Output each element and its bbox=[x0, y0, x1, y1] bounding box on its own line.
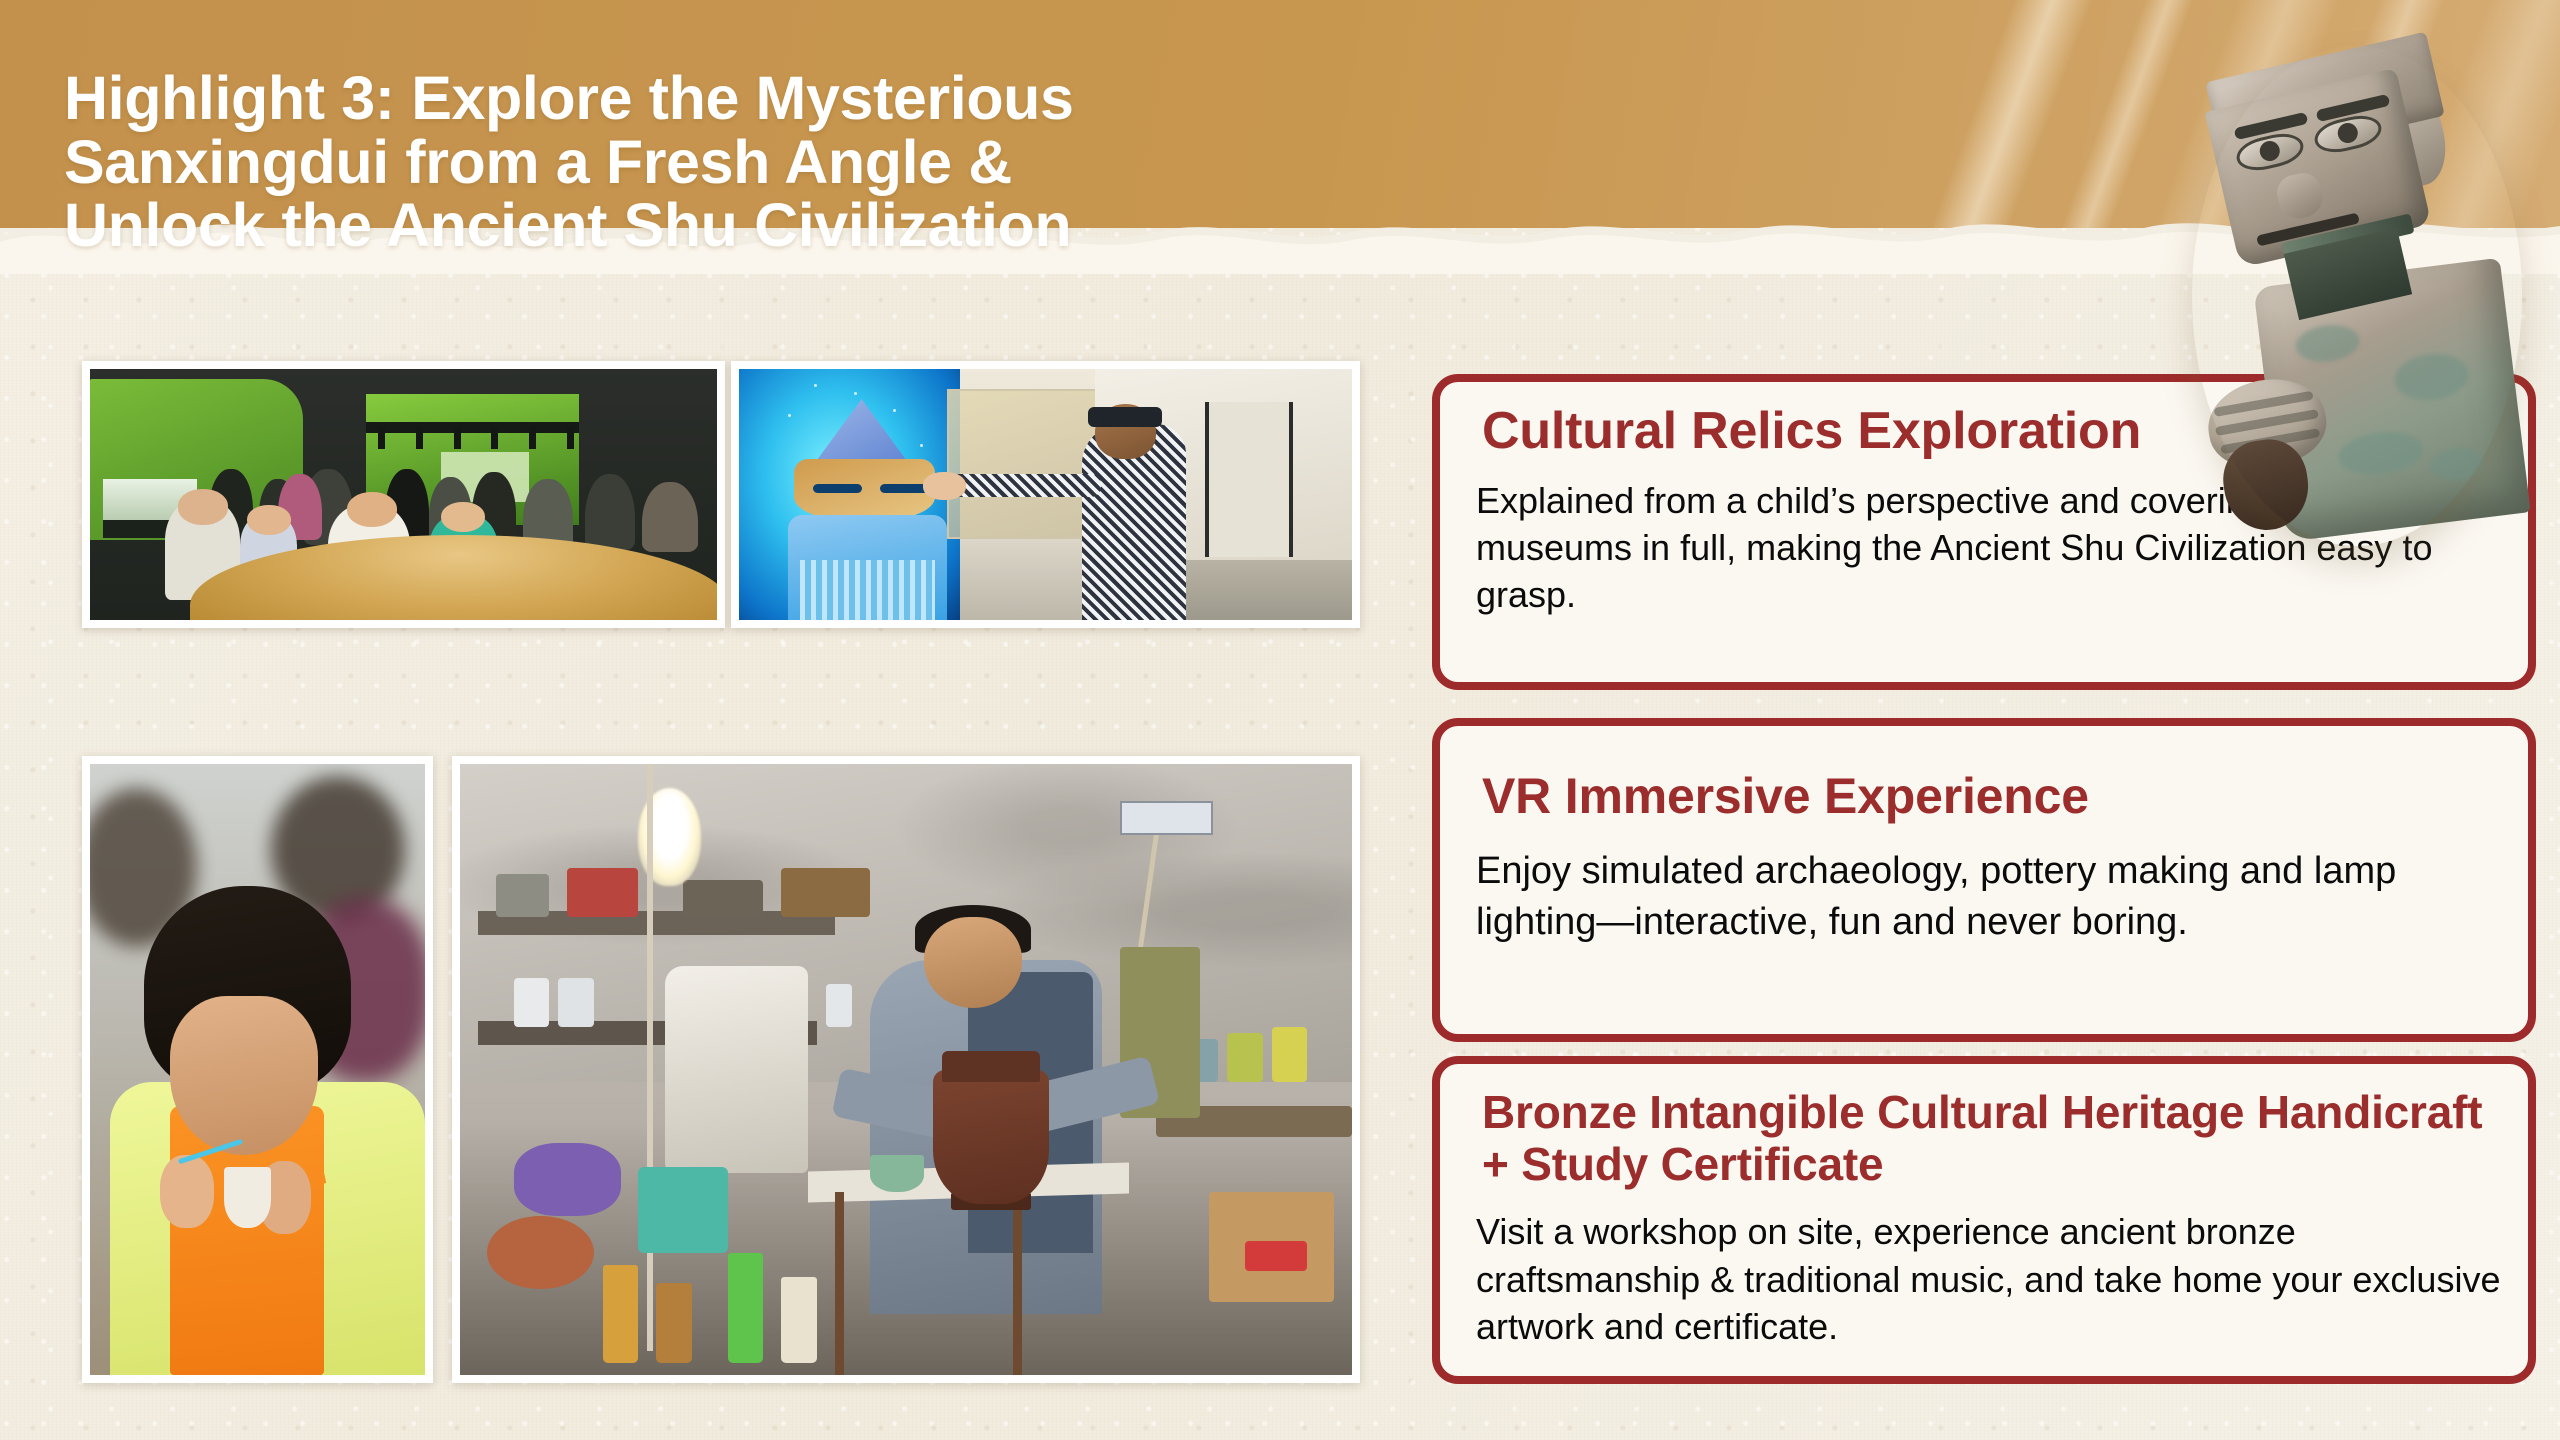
card-bronze-intangible-cultural-heritage[interactable]: Bronze Intangible Cultural Heritage Hand… bbox=[1432, 1056, 2536, 1384]
bronze-statue-image bbox=[2150, 28, 2545, 548]
card-title: VR Immersive Experience bbox=[1482, 770, 2498, 823]
slide-canvas: Highlight 3: Explore the Mysterious Sanx… bbox=[0, 0, 2560, 1440]
photo-bronze-craftsman-workshop bbox=[452, 756, 1360, 1383]
card-body: Enjoy simulated archaeology, pottery mak… bbox=[1476, 846, 2502, 947]
photo-museum-visitors bbox=[82, 361, 725, 628]
card-vr-immersive-experience[interactable]: VR Immersive Experience Enjoy simulated … bbox=[1432, 718, 2536, 1042]
card-title: Bronze Intangible Cultural Heritage Hand… bbox=[1482, 1086, 2498, 1191]
title-line-2: Sanxingdui from a Fresh Angle & bbox=[64, 131, 1624, 195]
page-title: Highlight 3: Explore the Mysterious Sanx… bbox=[64, 67, 1624, 258]
card-body: Visit a workshop on site, experience anc… bbox=[1476, 1208, 2502, 1351]
photo-child-painting-craft bbox=[82, 756, 433, 1383]
photo-vr-interaction bbox=[731, 361, 1360, 628]
title-line-3: Unlock the Ancient Shu Civilization bbox=[64, 194, 1624, 258]
title-line-1: Highlight 3: Explore the Mysterious bbox=[64, 67, 1624, 131]
